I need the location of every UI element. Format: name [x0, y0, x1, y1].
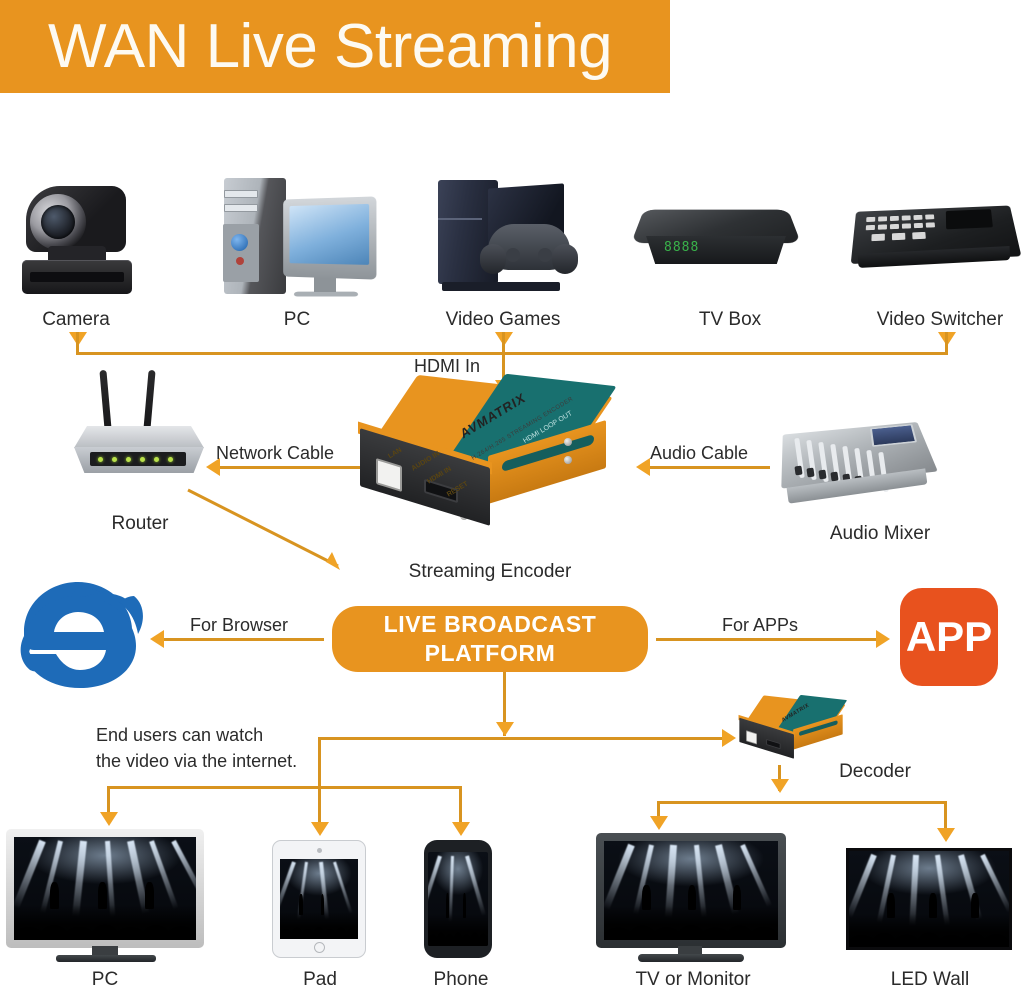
- pc-drop-arrowhead: [100, 812, 118, 826]
- end-user-note-line2: the video via the internet.: [96, 748, 297, 774]
- source-label-tv-box: TV Box: [655, 308, 805, 332]
- camera-drop-line: [76, 332, 79, 354]
- source-label-camera: Camera: [0, 308, 152, 332]
- for-apps-label: For APPs: [722, 614, 798, 637]
- videogames-drop-line: [502, 332, 505, 354]
- wifi-router-icon: [68, 370, 213, 482]
- endpoint-pad-display: [272, 840, 366, 958]
- end-user-note-line1: End users can watch: [96, 722, 297, 748]
- audio-cable-arrowhead: [636, 458, 650, 476]
- tv-box-display: 8888: [664, 240, 699, 255]
- pad-drop-arrowhead: [311, 822, 329, 836]
- end-user-note: End users can watch the video via the in…: [96, 722, 297, 774]
- endpoint-label-tv: TV or Monitor: [620, 968, 766, 992]
- encoder-label: Streaming Encoder: [370, 560, 610, 584]
- page-title: WAN Live Streaming: [0, 16, 612, 78]
- tv-display-stand-base: [638, 954, 744, 962]
- title-banner: WAN Live Streaming: [0, 0, 670, 93]
- decoder-out-rail: [657, 801, 947, 804]
- audio-mixer-label: Audio Mixer: [790, 522, 970, 546]
- video-switcher-icon: [850, 182, 1022, 294]
- app-icon-label: APP: [906, 613, 992, 661]
- for-browser-arrowhead: [150, 630, 164, 648]
- switcher-drop-line: [945, 332, 948, 354]
- for-browser-line: [164, 638, 324, 641]
- phone-drop-line: [459, 786, 462, 826]
- audio-cable-line: [650, 466, 770, 469]
- source-label-pc: PC: [222, 308, 372, 332]
- network-cable-line: [220, 466, 360, 469]
- endpoint-pc-display: [6, 829, 204, 948]
- app-icon[interactable]: APP: [900, 588, 998, 686]
- for-browser-label: For Browser: [190, 614, 288, 637]
- platform-down-arrowhead: [496, 722, 514, 736]
- pc-display-stand-base: [56, 955, 156, 962]
- endpoint-label-pad: Pad: [262, 968, 378, 992]
- diagram-canvas: WAN Live Streaming Camera PC Video Games: [0, 0, 1024, 991]
- desktop-pc-icon: [218, 172, 388, 302]
- tv-box-icon: 8888: [630, 182, 802, 294]
- audio-cable-label: Audio Cable: [650, 442, 748, 465]
- endpoint-bus-rail: [107, 786, 462, 789]
- decoder-feed-arrowhead: [722, 729, 736, 747]
- decoder-down-arrowhead: [771, 779, 789, 793]
- hdmi-bus-rail: [76, 352, 948, 355]
- platform-line2: PLATFORM: [384, 639, 597, 668]
- pad-drop-line: [318, 786, 321, 826]
- endpoint-branch-down: [318, 737, 321, 786]
- live-broadcast-platform[interactable]: LIVE BROADCAST PLATFORM: [332, 606, 648, 672]
- endpoint-label-phone: Phone: [406, 968, 516, 992]
- decoder-label: Decoder: [820, 760, 930, 784]
- platform-line1: LIVE BROADCAST: [384, 610, 597, 639]
- internet-explorer-icon: [8, 566, 148, 696]
- router-to-platform-connector: [180, 470, 370, 580]
- endpoint-label-led-wall: LED Wall: [860, 968, 1000, 992]
- endpoint-led-wall: [846, 848, 1012, 950]
- endpoint-phone-display: [424, 840, 492, 958]
- network-cable-label: Network Cable: [216, 442, 334, 465]
- for-apps-line: [656, 638, 878, 641]
- source-label-video-switcher: Video Switcher: [860, 308, 1020, 332]
- streaming-decoder-icon: AVMATRIX: [736, 700, 782, 729]
- decoder-feed-rail: [318, 737, 726, 740]
- ptz-camera-icon: [8, 172, 148, 300]
- endpoint-label-pc: PC: [40, 968, 170, 992]
- audio-mixer-icon: [775, 400, 945, 510]
- source-label-video-games: Video Games: [428, 308, 578, 332]
- phone-drop-arrowhead: [452, 822, 470, 836]
- game-console-icon: [430, 172, 580, 302]
- streaming-encoder-icon: AVMATRIX H.264/H.265 STREAMING ENCODER L…: [352, 386, 620, 546]
- ledwall-drop-arrowhead: [937, 828, 955, 842]
- endpoint-tv-display: [596, 833, 786, 948]
- for-apps-arrowhead: [876, 630, 890, 648]
- tv-drop-arrowhead: [650, 816, 668, 830]
